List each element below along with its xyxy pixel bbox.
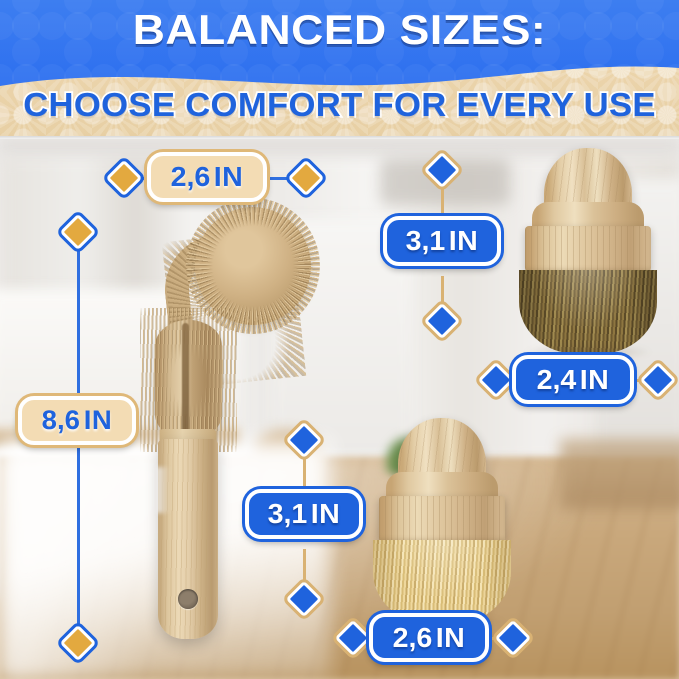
product-light-scrub-brush	[352, 418, 532, 633]
measure-unit-5: IN	[436, 622, 466, 654]
measure-badge-light-brush-height[interactable]: 3,1 IN	[245, 489, 363, 539]
light-brush-bristles	[373, 540, 511, 624]
right-island-blur	[560, 439, 679, 509]
header-title-line2: CHOOSE COMFORT FOR EVERY USE	[0, 86, 679, 124]
measure-badge-light-brush-width[interactable]: 2,6 IN	[369, 613, 489, 662]
measure-line-bottle-length-lower	[77, 447, 80, 639]
header-bottom-divider	[0, 136, 679, 139]
measure-badge-dark-brush-width[interactable]: 2,4 IN	[512, 355, 634, 404]
measure-unit-2: IN	[449, 225, 479, 257]
measure-value-3: 2,4	[536, 364, 576, 396]
measure-unit-4: IN	[311, 498, 341, 530]
handle-edge-highlight	[156, 467, 170, 513]
measure-value-1: 8,6	[41, 405, 79, 436]
measure-badge-bottle-total-length[interactable]: 8,6 IN	[18, 396, 136, 445]
measure-value-0: 2,6	[170, 161, 210, 193]
measure-value-2: 3,1	[405, 225, 445, 257]
measure-badge-bottle-head-width[interactable]: 2,6 IN	[147, 152, 267, 202]
dark-brush-bristle-fan	[519, 270, 657, 354]
measure-unit-0: IN	[214, 161, 244, 193]
measure-value-5: 2,6	[392, 622, 432, 654]
light-brush-bristle-fan	[373, 540, 511, 624]
bottle-brush-spine	[182, 323, 189, 441]
infographic-canvas: 2,6 IN 8,6 IN 3,1 IN 2,4 IN 3,1 IN 2,6 I…	[0, 0, 679, 679]
light-brush-wooden-base	[379, 496, 505, 542]
measure-unit-3: IN	[580, 364, 610, 396]
dark-brush-wooden-base	[525, 226, 651, 272]
product-dark-scrub-brush	[498, 148, 678, 363]
measure-unit-1: IN	[84, 405, 113, 436]
dark-brush-bristles	[519, 270, 657, 354]
header-title-line1: BALANCED SIZES:	[0, 6, 679, 54]
measure-line-bottle-length-upper	[77, 240, 80, 410]
measure-value-4: 3,1	[267, 498, 307, 530]
measure-badge-dark-brush-height[interactable]: 3,1 IN	[383, 216, 501, 266]
header-banner: BALANCED SIZES: CHOOSE COMFORT FOR EVERY…	[0, 0, 679, 139]
bottle-brush-hang-hole	[178, 589, 198, 609]
